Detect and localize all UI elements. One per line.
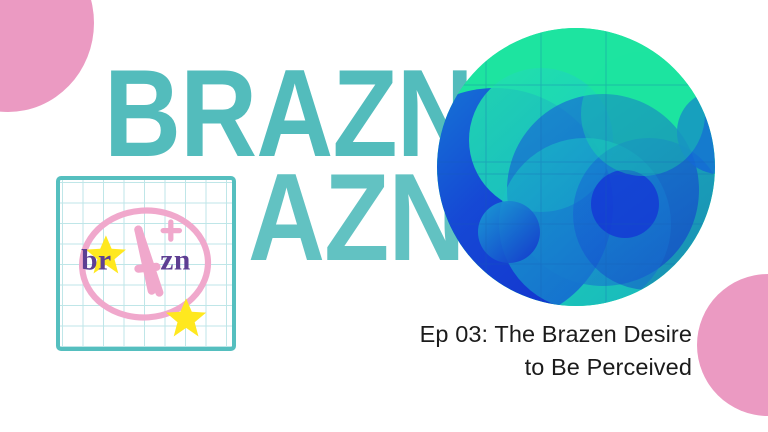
wordmark-line-secondary: AZN: [248, 156, 465, 280]
gradient-orb-artwork: [437, 28, 715, 306]
orb-svg: [437, 28, 715, 306]
episode-title-line-1: Ep 03: The Brazen Desire: [332, 318, 692, 351]
logo-artwork: br zn: [60, 180, 232, 347]
grade-a-mark: [138, 230, 159, 293]
brazn-logo-card: br zn: [56, 176, 236, 351]
pink-circle-top-left: [0, 0, 94, 112]
episode-title-line-2: to Be Perceived: [332, 351, 692, 384]
star-icon-lower: [166, 298, 206, 336]
pink-circle-bottom-right: [697, 274, 768, 416]
plus-mark: [163, 222, 179, 239]
episode-title: Ep 03: The Brazen Desire to Be Perceived: [332, 318, 692, 385]
logo-text-prefix: br: [81, 245, 112, 277]
logo-text-suffix: zn: [160, 245, 191, 277]
episode-cover-canvas: BRAZN AZN br zn: [0, 0, 768, 432]
wordmark-line-primary: BRAZN: [104, 52, 473, 176]
